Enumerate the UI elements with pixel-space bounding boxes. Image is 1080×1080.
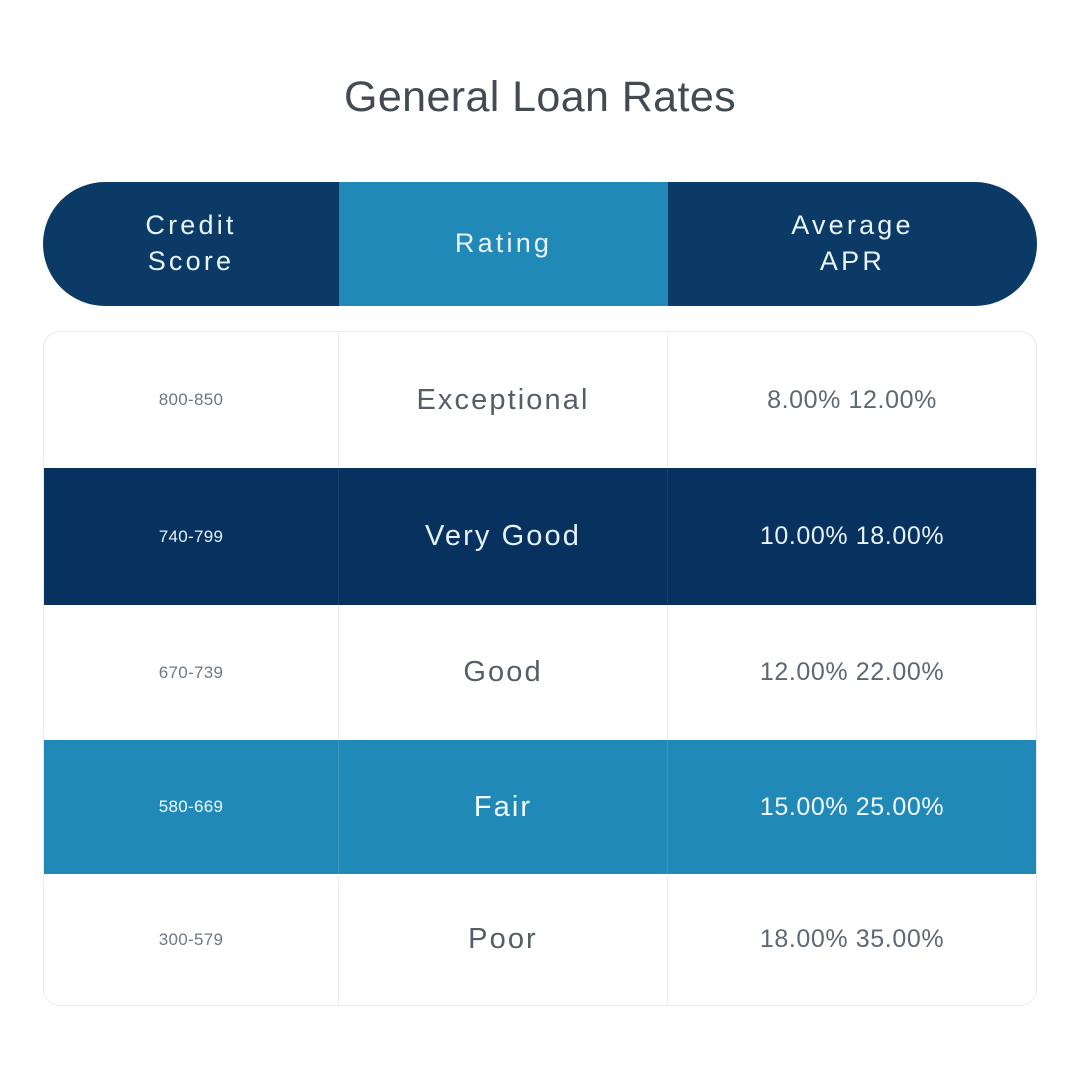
- average-apr-value: 8.00% 12.00%: [767, 386, 937, 415]
- page-title: General Loan Rates: [0, 72, 1080, 124]
- table-row: 580-669 Fair 15.00% 25.00%: [44, 740, 1036, 874]
- table-row: 670-739 Good 12.00% 22.00%: [44, 605, 1036, 740]
- credit-score-value: 670-739: [159, 663, 224, 683]
- cell-credit-score: 800-850: [44, 332, 339, 468]
- credit-score-value: 740-799: [159, 527, 224, 547]
- column-header-credit-score-line2: Score: [148, 246, 235, 276]
- cell-rating: Exceptional: [339, 332, 668, 468]
- rating-value: Very Good: [425, 520, 581, 553]
- cell-credit-score: 740-799: [44, 468, 339, 605]
- cell-average-apr: 8.00% 12.00%: [668, 332, 1036, 468]
- column-header-average-apr: Average APR: [668, 182, 1037, 306]
- credit-score-value: 800-850: [159, 390, 224, 410]
- table-row: 740-799 Very Good 10.00% 18.00%: [44, 468, 1036, 605]
- average-apr-value: 15.00% 25.00%: [760, 793, 944, 822]
- table-row: 800-850 Exceptional 8.00% 12.00%: [44, 332, 1036, 468]
- average-apr-value: 18.00% 35.00%: [760, 925, 944, 954]
- average-apr-value: 10.00% 18.00%: [760, 522, 944, 551]
- rating-value: Fair: [474, 791, 532, 824]
- cell-credit-score: 580-669: [44, 740, 339, 874]
- credit-score-value: 580-669: [159, 797, 224, 817]
- column-header-rating: Rating: [339, 182, 668, 306]
- table-header-row: Credit Score Rating Average APR: [43, 182, 1037, 306]
- cell-rating: Very Good: [339, 468, 668, 605]
- credit-score-value: 300-579: [159, 930, 224, 950]
- cell-credit-score: 670-739: [44, 605, 339, 740]
- rating-value: Good: [463, 656, 542, 689]
- loan-rates-infographic: General Loan Rates Credit Score Rating A…: [0, 0, 1080, 1080]
- cell-rating: Good: [339, 605, 668, 740]
- cell-credit-score: 300-579: [44, 874, 339, 1005]
- column-header-average-apr-line1: Average: [791, 210, 913, 240]
- cell-average-apr: 18.00% 35.00%: [668, 874, 1036, 1005]
- column-header-rating-label: Rating: [455, 228, 552, 258]
- cell-average-apr: 15.00% 25.00%: [668, 740, 1036, 874]
- column-header-average-apr-line2: APR: [820, 246, 885, 276]
- rating-value: Poor: [468, 923, 538, 956]
- cell-average-apr: 10.00% 18.00%: [668, 468, 1036, 605]
- cell-rating: Fair: [339, 740, 668, 874]
- average-apr-value: 12.00% 22.00%: [760, 658, 944, 687]
- table-row: 300-579 Poor 18.00% 35.00%: [44, 874, 1036, 1005]
- cell-average-apr: 12.00% 22.00%: [668, 605, 1036, 740]
- column-header-credit-score-line1: Credit: [145, 210, 236, 240]
- column-header-credit-score: Credit Score: [43, 182, 339, 306]
- cell-rating: Poor: [339, 874, 668, 1005]
- rating-value: Exceptional: [416, 384, 589, 417]
- table-body: 800-850 Exceptional 8.00% 12.00% 740-799…: [43, 331, 1037, 1006]
